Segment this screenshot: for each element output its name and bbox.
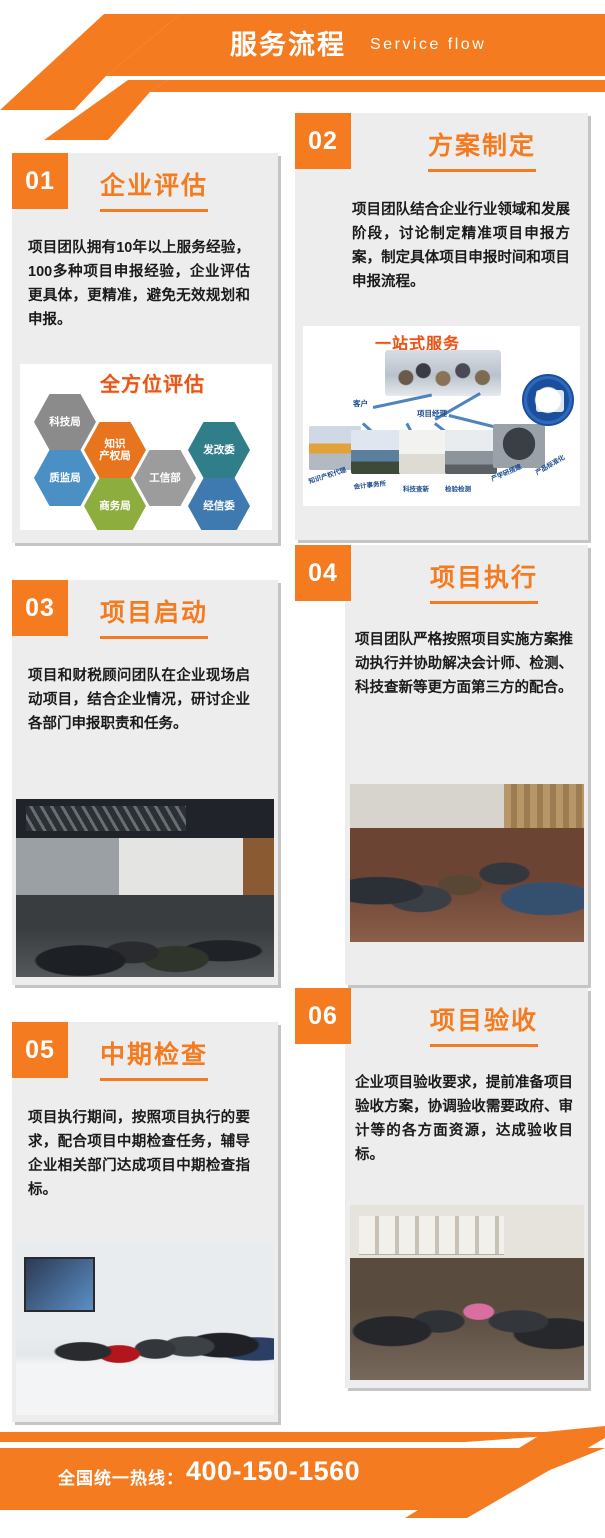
step-body-04: 项目团队严格按照项目实施方案推动执行并协助解决会计师、检测、科技查新等更方面第三…	[355, 628, 573, 700]
oss-node-customer: 客户	[353, 398, 368, 409]
conference-room-image	[16, 799, 274, 977]
step-photo-03	[16, 799, 274, 977]
step-photo-04	[350, 784, 584, 942]
oss-meeting-photo	[385, 350, 501, 396]
step-title-01: 企业评估	[100, 166, 208, 212]
step-photo-05	[16, 1243, 274, 1415]
step-title-04: 项目执行	[430, 558, 538, 604]
oss-thumb-search	[399, 430, 451, 474]
step-body-01: 项目团队拥有10年以上服务经验，100多种项目申报经验，企业评估更具体，更精准，…	[28, 236, 250, 332]
hex-node-zhishi: 知识 产权局	[84, 422, 146, 478]
hex-node-fagai: 发改委	[188, 422, 250, 478]
hex-node-jingxin: 经信委	[188, 478, 250, 530]
step-body-03: 项目和财税顾问团队在企业现场启动项目，结合企业情况，研讨企业各部门申报职责和任务…	[28, 664, 250, 736]
page-title: 服务流程	[230, 26, 346, 64]
hotline-number[interactable]: 400-150-1560	[186, 1456, 360, 1487]
project-meeting-image	[350, 784, 584, 942]
hex-node-zhijian: 质监局	[34, 450, 96, 506]
site-visit-image	[16, 1243, 274, 1415]
hotline-label: 全国统一热线：	[58, 1464, 184, 1489]
page-subtitle: Service flow	[370, 36, 486, 54]
step-number-badge-01: 01	[12, 153, 68, 209]
service-flow-poster: 服务流程 Service flow 01 企业评估 项目团队拥有10年以上服务经…	[0, 0, 605, 1538]
oss-certification-seal-icon	[522, 374, 574, 426]
step-body-06: 企业项目验收要求，提前准备项目验收方案，协调验收需要政府、审计等的各方面资源，达…	[355, 1071, 573, 1167]
step-number-badge-05: 05	[12, 1022, 68, 1078]
hex-assessment-diagram: 全方位评估 科技局 知识 产权局 质监局 工信部 商务局 发改委 经信委	[20, 364, 272, 530]
oss-node-manager: 项目经理	[417, 408, 447, 419]
step-title-05: 中期检查	[100, 1035, 208, 1081]
step-title-03: 项目启动	[100, 593, 208, 639]
step-number-badge-03: 03	[12, 580, 68, 636]
oss-thumb-account	[351, 430, 403, 474]
hex-node-gongxin: 工信部	[134, 450, 196, 506]
oss-thumb-test	[445, 430, 497, 474]
acceptance-meeting-image	[350, 1205, 584, 1380]
oss-label-test: 检验检测	[445, 483, 471, 493]
page-header: 服务流程 Service flow	[0, 0, 605, 110]
step-photo-06	[350, 1205, 584, 1380]
step-body-02: 项目团队结合企业行业领域和发展阶段，讨论制定精准项目申报方案，制定具体项目申报时…	[352, 198, 570, 294]
hex-diagram-title: 全方位评估	[100, 368, 205, 397]
step-number-badge-04: 04	[295, 545, 351, 601]
hex-node-shangwu: 商务局	[84, 478, 146, 530]
one-stop-service-diagram: 一站式服务 客户 项目经理 知识产权代理 会计事务所 科技查新 检验检测 产学研…	[303, 326, 580, 506]
step-title-06: 项目验收	[430, 1001, 538, 1047]
oss-label-account: 会计事务所	[353, 478, 386, 491]
step-title-02: 方案制定	[428, 126, 536, 172]
step-number-badge-02: 02	[295, 113, 351, 169]
page-footer: 全国统一热线： 400-150-1560	[0, 1418, 605, 1538]
footer-thin-stripe	[0, 1432, 605, 1442]
step-number-badge-06: 06	[295, 988, 351, 1044]
hex-node-keji: 科技局	[34, 394, 96, 450]
oss-label-search: 科技查新	[403, 483, 429, 493]
step-body-05: 项目执行期间，按照项目执行的要求，配合项目中期检查任务，辅导企业相关部门达成项目…	[28, 1106, 250, 1202]
